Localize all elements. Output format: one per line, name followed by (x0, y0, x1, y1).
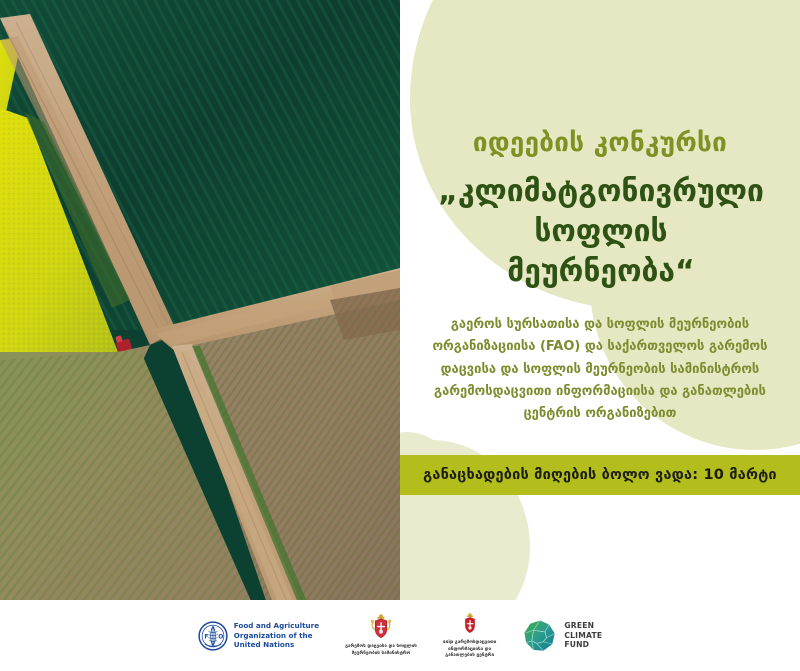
gcf-text-line-2: CLIMATE (564, 631, 602, 641)
logo-ministry: გარემოს დაცვისა და სოფლის მეურნეობის სამ… (345, 613, 417, 657)
main-title-line-1: „კლიმატგონივრული (406, 172, 796, 212)
gcf-text-line-3: FUND (564, 640, 602, 650)
main-title-line-3: მეურნეობა“ (406, 252, 796, 292)
organizers-description: გაეროს სურსათისა და სოფლის მეურნეობის ორ… (414, 314, 786, 426)
ministry-caption: გარემოს დაცვისა და სოფლის მეურნეობის სამ… (345, 644, 417, 657)
logo-eiec: ssip გარემოსდაცვითი ინფორმაციისა და განა… (443, 611, 496, 660)
fao-text-line-3: United Nations (234, 640, 319, 650)
aerial-farmland-photo (0, 0, 400, 671)
fao-text-line-1: Food and Agriculture (234, 621, 319, 631)
body-line-4: გარემოსდაცვითი ინფორმაციისა და განათლები… (414, 381, 786, 403)
logo-green-climate-fund: GREEN CLIMATE FUND (522, 618, 602, 654)
body-line-1: გაეროს სურსათისა და სოფლის მეურნეობის (414, 314, 786, 336)
logo-fao: F O Food and Agriculture Organization of… (198, 621, 319, 651)
svg-text:O: O (218, 633, 223, 640)
eiec-caption: ssip გარემოსდაცვითი ინფორმაციისა და განა… (443, 640, 496, 660)
aerial-farmland-illustration (0, 0, 400, 671)
georgia-coat-of-arms-icon (368, 613, 394, 641)
ministry-caption-line-2: მეურნეობის სამინისტრო (345, 651, 417, 658)
green-climate-fund-globe-icon (522, 618, 558, 654)
content-panel: იდეების კონკურსი „კლიმატგონივრული სოფლის… (400, 0, 800, 671)
body-line-5: ცენტრის ორგანიზებით (414, 403, 786, 425)
main-title: „კლიმატგონივრული სოფლის მეურნეობა“ (406, 172, 796, 292)
lead-title: იდეების კონკურსი (400, 128, 800, 159)
eiec-caption-line-3: განათლების ცენტრი (443, 653, 496, 660)
poster-root: იდეების კონკურსი „კლიმატგონივრული სოფლის… (0, 0, 800, 671)
georgia-coat-of-arms-icon (459, 611, 481, 637)
fao-logo-text: Food and Agriculture Organization of the… (234, 621, 319, 650)
gcf-text-line-1: GREEN (564, 621, 602, 631)
eiec-caption-line-1: ssip გარემოსდაცვითი (443, 640, 496, 647)
panel-content: იდეების კონკურსი „კლიმატგონივრული სოფლის… (400, 0, 800, 671)
fao-text-line-2: Organization of the (234, 631, 319, 641)
main-title-line-2: სოფლის (406, 212, 796, 252)
logo-strip: F O Food and Agriculture Organization of… (0, 600, 800, 671)
svg-text:F: F (204, 633, 208, 640)
gcf-logo-text: GREEN CLIMATE FUND (564, 621, 602, 651)
body-line-3: დაცვისა და სოფლის მეურნეობის სამინისტროს (414, 359, 786, 381)
fao-emblem-icon: F O (198, 621, 228, 651)
body-line-2: ორგანიზაციისა (FAO) და საქართველოს გარემ… (414, 336, 786, 358)
ministry-caption-line-1: გარემოს დაცვისა და სოფლის (345, 644, 417, 651)
